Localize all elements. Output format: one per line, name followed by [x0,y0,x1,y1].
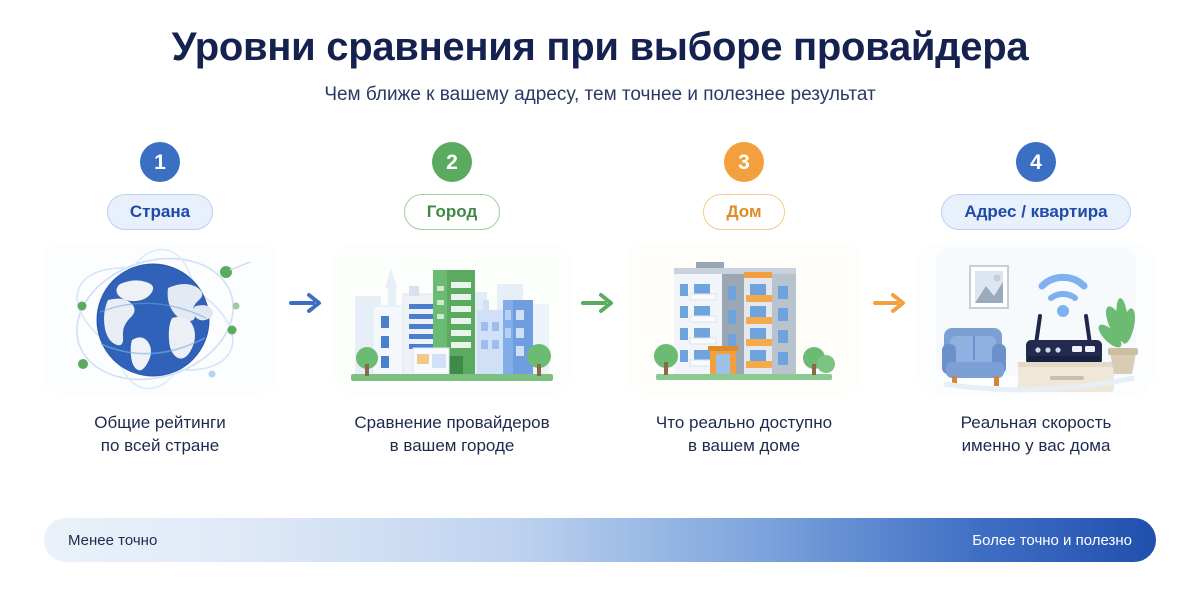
step-number-4: 4 [1030,152,1042,173]
city-skyline-icon [347,244,557,394]
step-pill-label-address: Адрес / квартира [964,202,1107,222]
step-pill-label-city: Город [427,202,478,222]
page-subtitle: Чем ближе к вашему адресу, тем точнее и … [0,84,1200,106]
globe-illustration-panel [42,244,278,394]
step-pill-label-country: Страна [130,202,190,222]
accuracy-scale-bar: Менее точно Более точно и полезно [44,518,1156,562]
arrow-right-icon [581,292,615,314]
globe-icon [60,244,260,394]
step-badge-1: 1 [140,142,180,182]
page-title: Уровни сравнения при выборе провайдера [0,26,1200,68]
step-pill-country[interactable]: Страна [107,194,213,230]
header: Уровни сравнения при выборе провайдера Ч… [0,0,1200,106]
room-router-illustration-panel [918,244,1154,394]
step-country[interactable]: 1 Страна [34,142,286,458]
infographic-page: Уровни сравнения при выборе провайдера Ч… [0,0,1200,600]
step-caption-country: Общие рейтинги по всей стране [94,412,225,458]
step-badge-3: 3 [724,142,764,182]
apartment-building-icon [644,244,844,394]
apartment-illustration-panel [626,244,862,394]
step-caption-address: Реальная скорость именно у вас дома [961,412,1112,458]
arrow-country-to-city [286,142,326,314]
arrow-house-to-address [870,142,910,314]
arrow-right-icon [289,292,323,314]
step-house[interactable]: 3 Дом [618,142,870,458]
step-number-1: 1 [154,152,166,173]
step-caption-house: Что реально доступно в вашем доме [656,412,832,458]
step-number-2: 2 [446,152,458,173]
step-address[interactable]: 4 Адрес / квартира [910,142,1162,458]
city-illustration-panel [334,244,570,394]
step-pill-city[interactable]: Город [404,194,501,230]
step-badge-2: 2 [432,142,472,182]
steps-row: 1 Страна [34,142,1166,458]
step-badge-4: 4 [1016,142,1056,182]
room-with-router-icon [930,244,1142,394]
arrow-city-to-house [578,142,618,314]
arrow-right-icon [873,292,907,314]
step-pill-label-house: Дом [726,202,761,222]
scale-left-label: Менее точно [68,532,157,549]
step-caption-city: Сравнение провайдеров в вашем городе [354,412,549,458]
step-pill-address[interactable]: Адрес / квартира [941,194,1130,230]
scale-right-label: Более точно и полезно [972,532,1132,549]
step-pill-house[interactable]: Дом [703,194,784,230]
step-number-3: 3 [738,152,750,173]
step-city[interactable]: 2 Город [326,142,578,458]
